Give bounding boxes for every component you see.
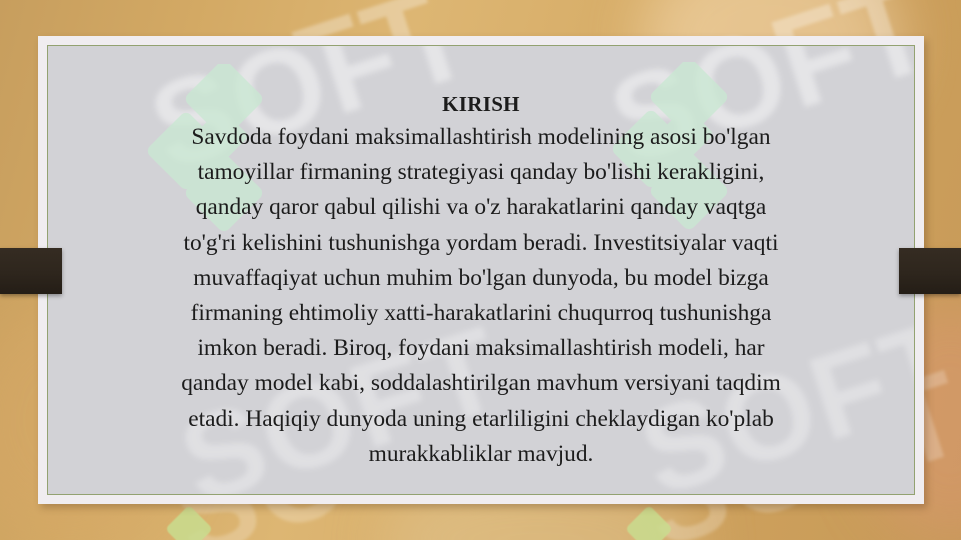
slide-body-line: firmaning ehtimoliy xatti-harakatlarini …	[66, 296, 896, 331]
right-accent-bar	[899, 248, 961, 294]
diamond-accent-icon	[165, 505, 213, 540]
slide-card: SOFT SOFT SOFT SOFT	[38, 36, 924, 504]
slide-body-line: to'g'ri kelishini tushunishga yordam ber…	[66, 226, 896, 261]
slide-body-line: muvaffaqiyat uchun muhim bo'lgan dunyoda…	[66, 261, 896, 296]
slide-canvas: SOFT SOFT SOFT SOFT SOFT SOFT SOFT SOFT	[0, 0, 961, 540]
slide-inner-frame: SOFT SOFT SOFT SOFT	[47, 45, 915, 495]
slide-body-line: etadi. Haqiqiy dunyoda uning etarliligin…	[66, 402, 896, 437]
diamond-accent-icon	[625, 505, 673, 540]
slide-body-line: imkon beradi. Biroq, foydani maksimallas…	[66, 331, 896, 366]
slide-content: KIRISH Savdoda foydani maksimallashtiris…	[48, 94, 914, 472]
slide-title: KIRISH	[66, 94, 896, 115]
left-accent-bar	[0, 248, 62, 294]
slide-body-text: Savdoda foydani maksimallashtirish model…	[66, 120, 896, 472]
slide-body-line: murakkabliklar mavjud.	[66, 437, 896, 472]
slide-body-line: qanday model kabi, soddalashtirilgan mav…	[66, 366, 896, 401]
slide-body-line: Savdoda foydani maksimallashtirish model…	[66, 120, 896, 155]
slide-body-line: qanday qaror qabul qilishi va o'z haraka…	[66, 190, 896, 225]
slide-body-line: tamoyillar firmaning strategiyasi qanday…	[66, 155, 896, 190]
